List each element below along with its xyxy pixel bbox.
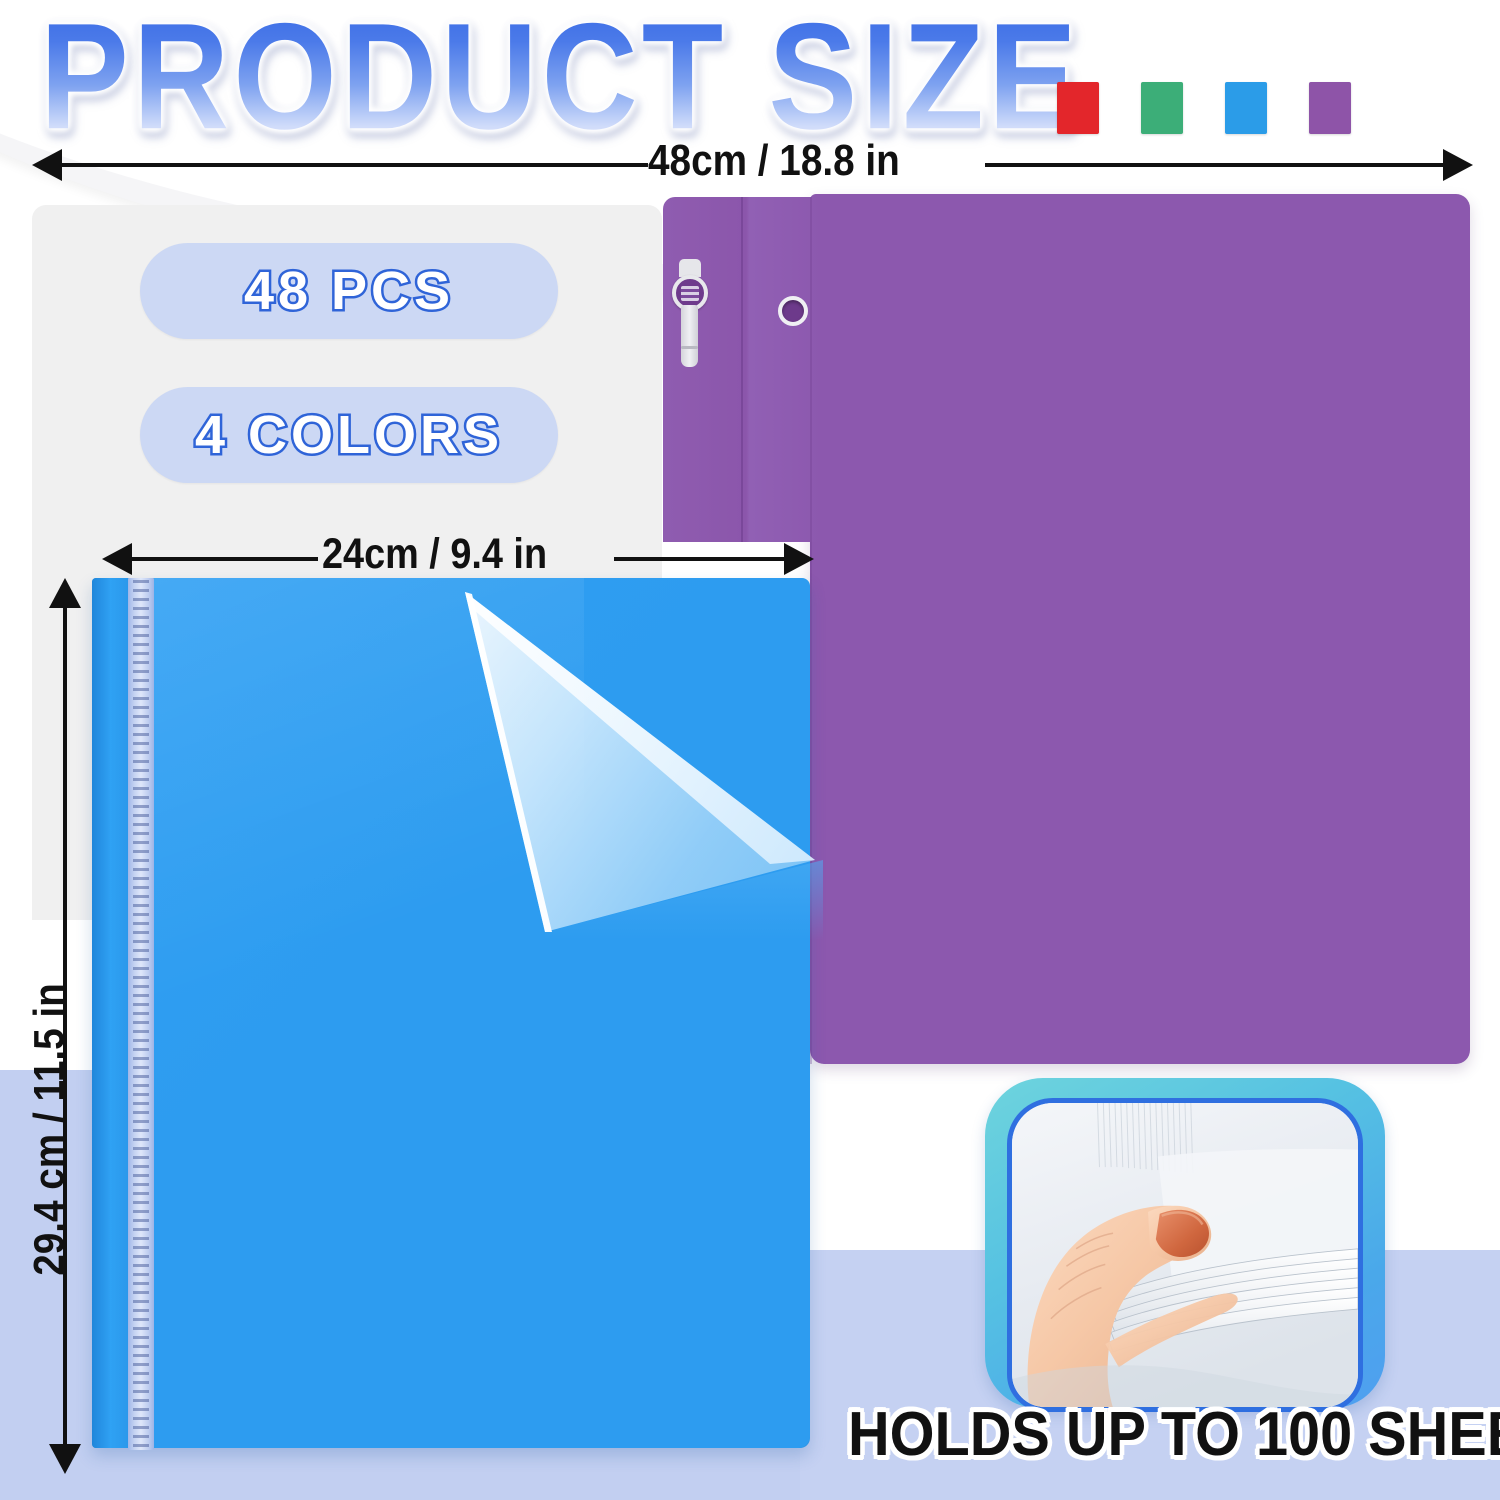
purple-folder-front-cover bbox=[663, 197, 823, 542]
infographic-canvas: PRODUCT SIZE 48 PCS 4 COLORS 48cm / 18.8… bbox=[0, 0, 1500, 1500]
arrow-up-icon bbox=[49, 578, 81, 608]
purple-folder-back-cover bbox=[810, 194, 1470, 1064]
badge-colors: 4 COLORS bbox=[140, 387, 558, 483]
dimension-label-single-width: 24cm / 9.4 in bbox=[322, 530, 547, 579]
page-title: PRODUCT SIZE bbox=[40, 2, 1081, 153]
arrow-left-icon bbox=[102, 543, 132, 575]
dimension-line-total-right bbox=[985, 163, 1465, 167]
arrow-left-icon bbox=[32, 149, 62, 181]
arrow-right-icon bbox=[784, 543, 814, 575]
clip-ring-grip bbox=[681, 286, 699, 301]
arrow-right-icon bbox=[1443, 149, 1473, 181]
dimension-line-single-right bbox=[614, 557, 784, 561]
dimension-line-single-left bbox=[128, 557, 318, 561]
swatch-red bbox=[1057, 82, 1099, 134]
clip-stem bbox=[681, 305, 698, 367]
punch-hole-icon bbox=[778, 296, 808, 326]
badge-colors-label: 4 COLORS bbox=[195, 404, 503, 466]
badge-quantity: 48 PCS bbox=[140, 243, 558, 339]
swatch-blue bbox=[1225, 82, 1267, 134]
dimension-label-height: 29.4 cm / 11.5 in bbox=[26, 932, 75, 1328]
blue-folder-back-edge-2 bbox=[110, 578, 130, 1448]
inset-photo bbox=[1007, 1098, 1363, 1412]
blue-folder-back-edge bbox=[92, 578, 110, 1448]
dimension-label-total-width: 48cm / 18.8 in bbox=[648, 136, 900, 186]
blue-folder-spine-teeth bbox=[133, 580, 149, 1448]
color-swatch-row bbox=[1057, 82, 1351, 134]
footer-caption: HOLDS UP TO 100 SHEETS bbox=[848, 1399, 1500, 1470]
clip-stem-notch bbox=[681, 346, 698, 349]
hand-holding-sheets-illustration bbox=[1012, 1103, 1358, 1408]
badge-quantity-label: 48 PCS bbox=[244, 260, 454, 322]
swatch-green bbox=[1141, 82, 1183, 134]
dimension-line-total-left bbox=[58, 163, 648, 167]
purple-folder-fold-line bbox=[741, 197, 743, 542]
swatch-purple bbox=[1309, 82, 1351, 134]
arrow-down-icon bbox=[49, 1444, 81, 1474]
